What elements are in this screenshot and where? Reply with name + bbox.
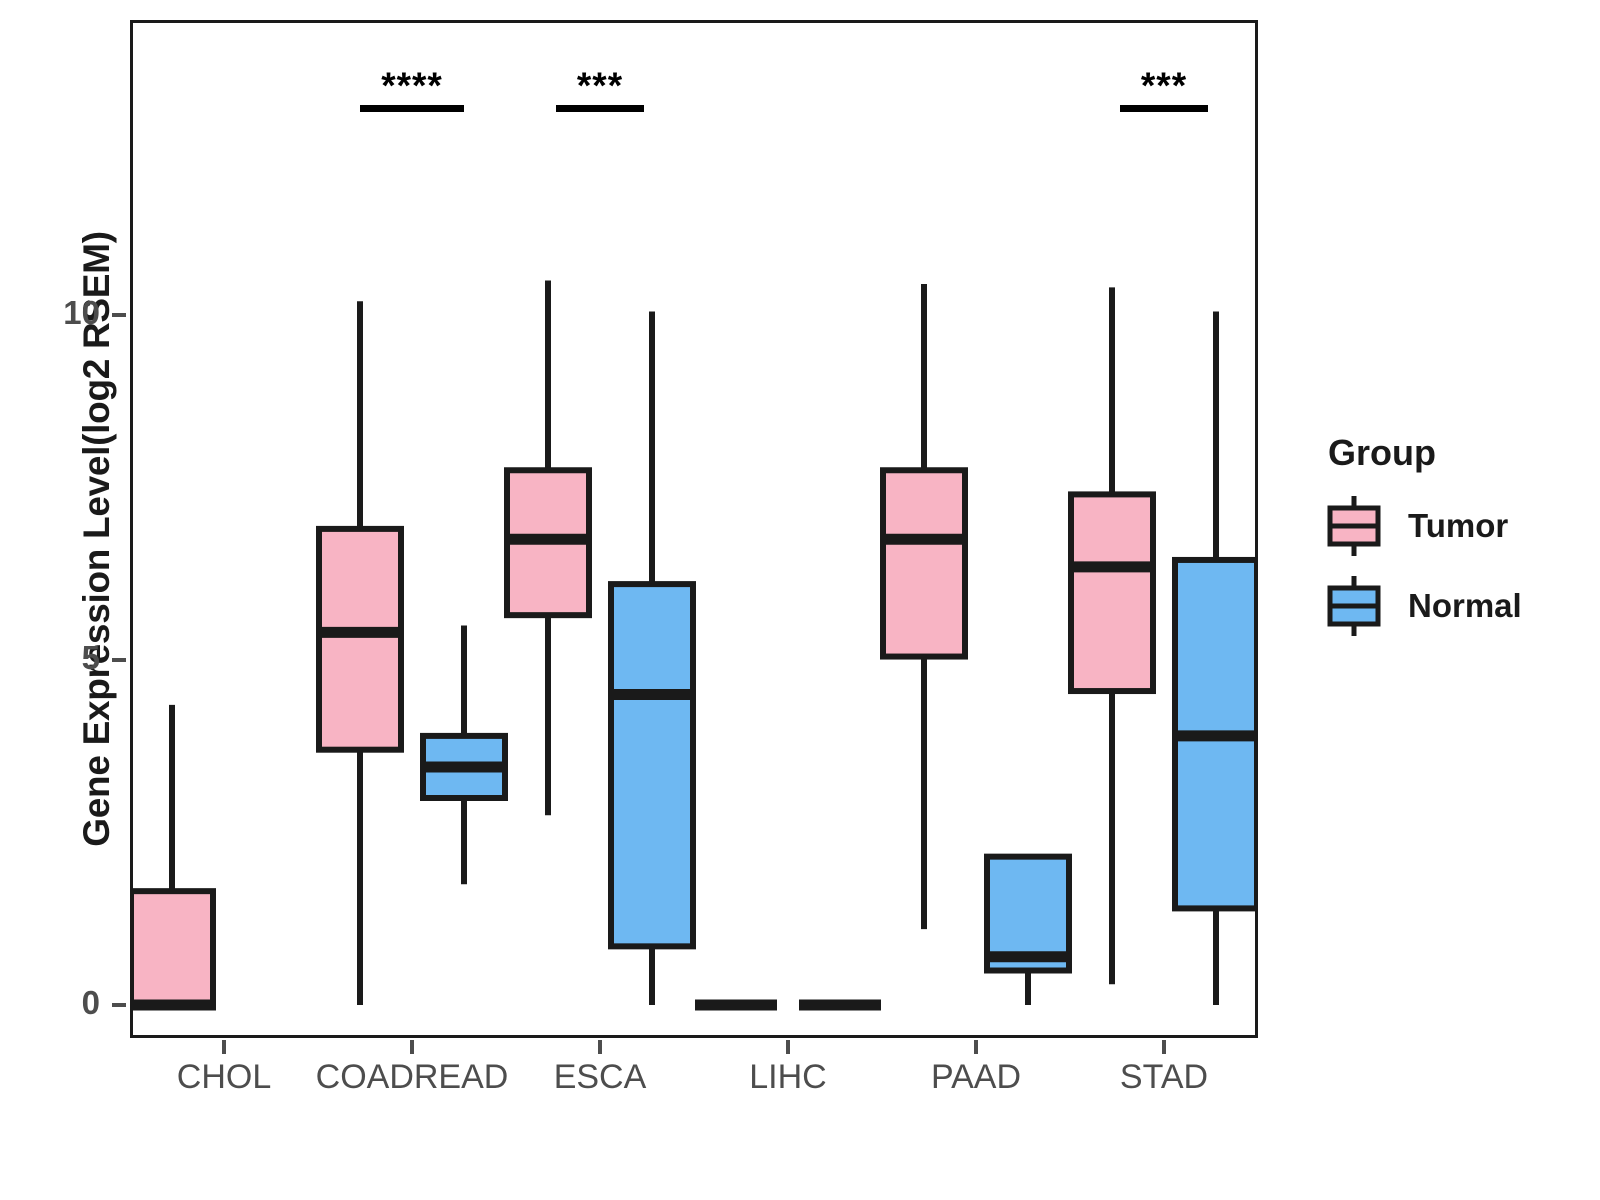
- x-tick-label-lihc: LIHC: [749, 1058, 826, 1097]
- significance-stars: ****: [302, 73, 522, 99]
- box-rect: [133, 891, 213, 1005]
- legend: Group TumorNormal: [1322, 432, 1592, 654]
- significance-bar: [556, 105, 644, 112]
- x-tick-mark: [974, 1040, 978, 1054]
- legend-item-normal[interactable]: Normal: [1322, 574, 1592, 638]
- box-rect: [319, 529, 401, 750]
- x-tick-mark: [410, 1040, 414, 1054]
- x-tick-mark: [1162, 1040, 1166, 1054]
- significance-marker-esca: ***: [490, 73, 710, 112]
- box-rect: [1071, 494, 1153, 691]
- y-tick-mark: [112, 1003, 126, 1007]
- box-rect: [883, 470, 965, 656]
- significance-marker-coadread: ****: [302, 73, 522, 112]
- x-tick-label-stad: STAD: [1120, 1058, 1208, 1097]
- legend-key-icon: [1322, 574, 1386, 638]
- significance-bar: [1120, 105, 1208, 112]
- boxplot-canvas: [133, 23, 1255, 1035]
- x-tick-label-paad: PAAD: [931, 1058, 1021, 1097]
- x-tick-label-chol: CHOL: [177, 1058, 271, 1097]
- x-tick-mark: [598, 1040, 602, 1054]
- plot-panel: [130, 20, 1258, 1038]
- significance-stars: ***: [490, 73, 710, 99]
- legend-title: Group: [1328, 432, 1592, 474]
- x-tick-label-coadread: COADREAD: [316, 1058, 509, 1097]
- legend-items: TumorNormal: [1322, 494, 1592, 638]
- y-tick-mark: [112, 658, 126, 662]
- y-tick-label: 10: [30, 294, 100, 332]
- x-tick-mark: [222, 1040, 226, 1054]
- y-tick-label: 0: [30, 984, 100, 1022]
- x-tick-mark: [786, 1040, 790, 1054]
- x-tick-label-esca: ESCA: [554, 1058, 647, 1097]
- box-rect: [611, 584, 693, 946]
- legend-label: Normal: [1408, 587, 1522, 625]
- chart-root: Gene Expression Level(log2 RSEM) 0510 **…: [0, 0, 1600, 1200]
- y-tick-mark: [112, 313, 126, 317]
- significance-bar: [360, 105, 464, 112]
- y-tick-label: 5: [30, 639, 100, 677]
- legend-label: Tumor: [1408, 507, 1508, 545]
- significance-stars: ***: [1054, 73, 1274, 99]
- legend-item-tumor[interactable]: Tumor: [1322, 494, 1592, 558]
- significance-marker-stad: ***: [1054, 73, 1274, 112]
- legend-key-icon: [1322, 494, 1386, 558]
